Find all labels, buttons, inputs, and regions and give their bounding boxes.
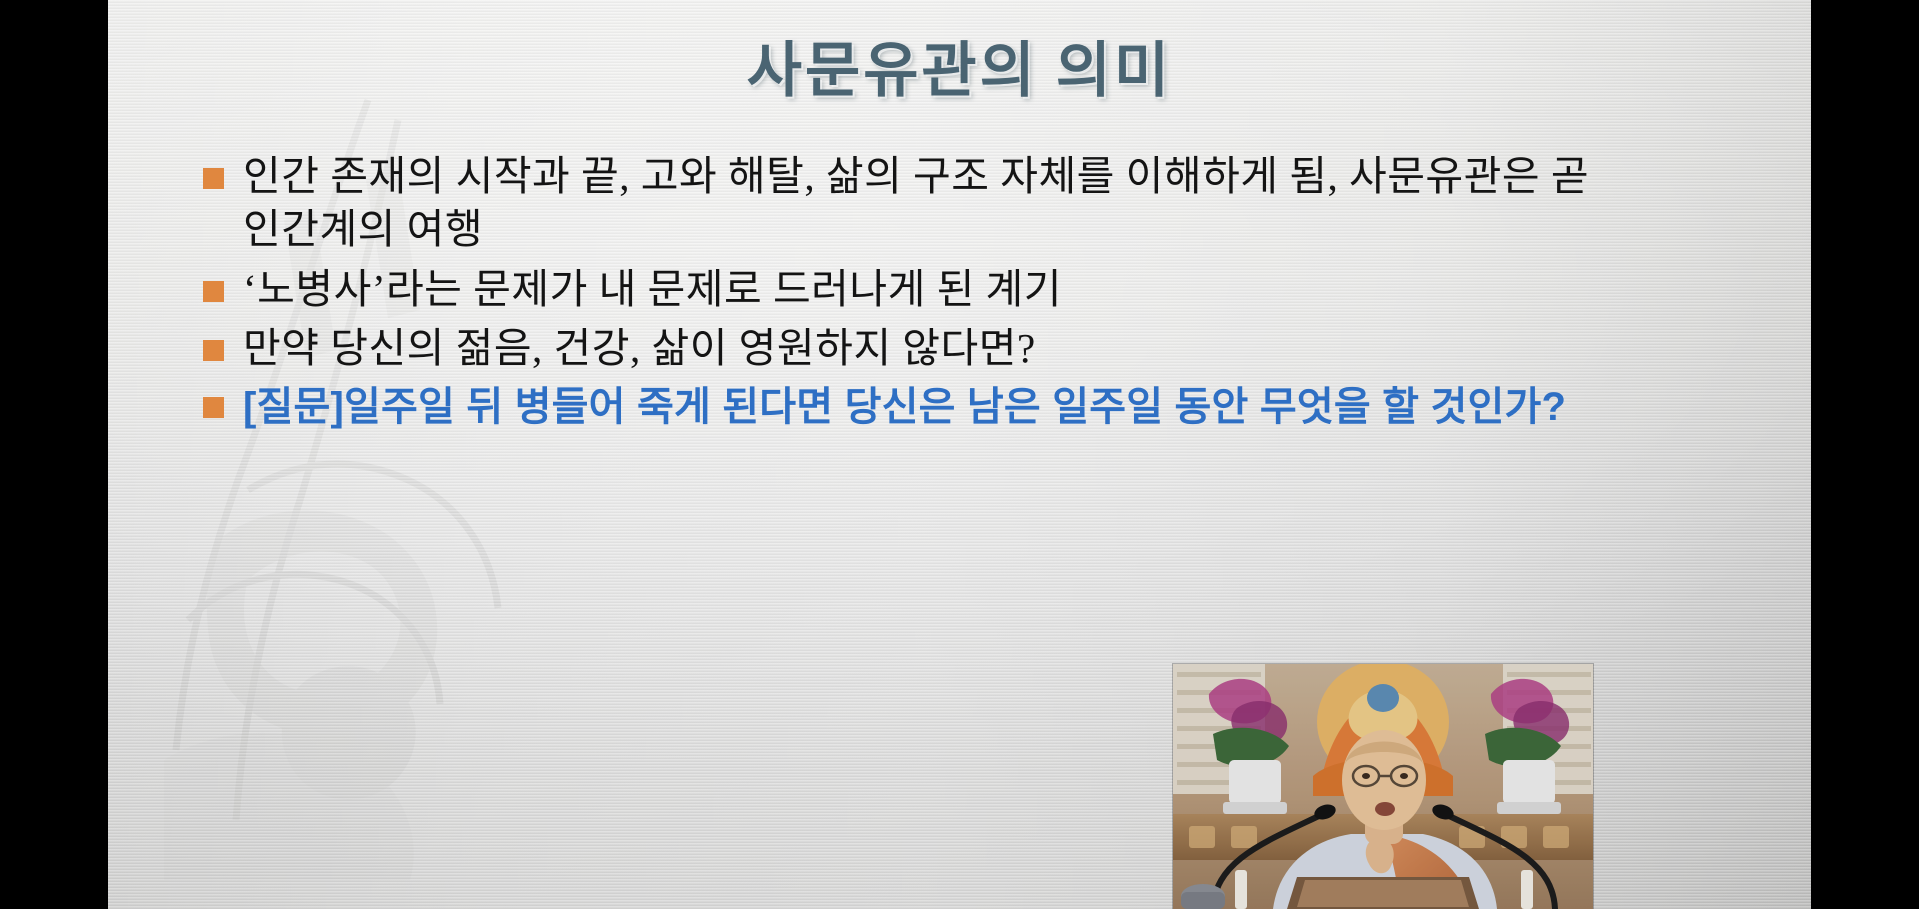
bullet-marker-icon xyxy=(203,397,224,418)
slide-body: 인간 존재의 시작과 끝, 고와 해탈, 삶의 구조 자체를 이해하게 됨, 사… xyxy=(203,150,1603,434)
screen: 사문유관의 의미 인간 존재의 시작과 끝, 고와 해탈, 삶의 구조 자체를 … xyxy=(0,0,1919,909)
bullet-item: 만약 당신의 젊음, 건강, 삶이 영원하지 않다면? xyxy=(203,322,1603,375)
bullet-item: ‘노병사’라는 문제가 내 문제로 드러나게 된 계기 xyxy=(203,263,1603,316)
letterbox-bar-left xyxy=(0,0,108,909)
presentation-slide: 사문유관의 의미 인간 존재의 시작과 끝, 고와 해탈, 삶의 구조 자체를 … xyxy=(108,0,1811,909)
bullet-text: 만약 당신의 젊음, 건강, 삶이 영원하지 않다면? xyxy=(243,322,1603,375)
bullet-text: 인간 존재의 시작과 끝, 고와 해탈, 삶의 구조 자체를 이해하게 됨, 사… xyxy=(243,150,1603,257)
video-overlay[interactable] xyxy=(1173,664,1593,909)
bullet-marker-icon xyxy=(203,281,224,302)
slide-title: 사문유관의 의미 xyxy=(108,22,1811,109)
question-bullet-item: [질문]일주일 뒤 병들어 죽게 된다면 당신은 남은 일주일 동안 무엇을 할… xyxy=(203,381,1603,434)
bullet-marker-icon xyxy=(203,168,224,189)
question-text: [질문]일주일 뒤 병들어 죽게 된다면 당신은 남은 일주일 동안 무엇을 할… xyxy=(243,381,1603,434)
bullet-item: 인간 존재의 시작과 끝, 고와 해탈, 삶의 구조 자체를 이해하게 됨, 사… xyxy=(203,150,1603,257)
bullet-marker-icon xyxy=(203,340,224,361)
bullet-text: ‘노병사’라는 문제가 내 문제로 드러나게 된 계기 xyxy=(243,263,1603,316)
letterbox-bar-right xyxy=(1811,0,1919,909)
